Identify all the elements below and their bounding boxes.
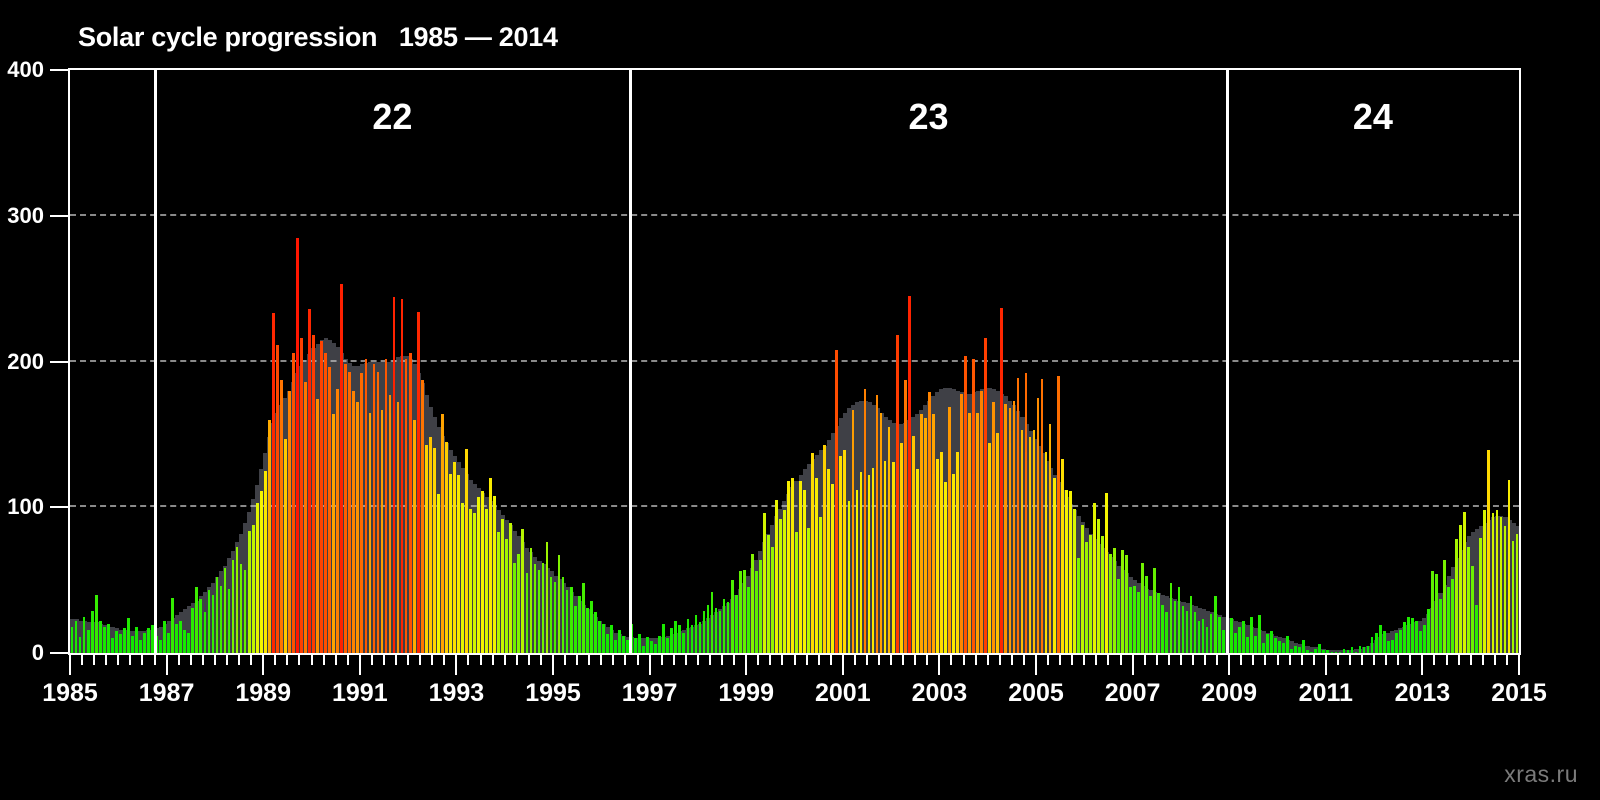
- x-tick-minor: [1071, 653, 1073, 665]
- x-tick-minor: [721, 653, 723, 665]
- plot-area: 222324: [68, 68, 1521, 655]
- monthly-bar: [308, 309, 311, 653]
- monthly-bar: [501, 519, 504, 653]
- monthly-bar: [1101, 536, 1104, 653]
- monthly-bar: [658, 636, 661, 653]
- x-tick-minor: [1470, 653, 1472, 665]
- monthly-bar: [1210, 614, 1213, 653]
- monthly-bar: [131, 636, 134, 653]
- monthly-bar: [1359, 646, 1362, 653]
- monthly-bar: [618, 630, 621, 653]
- monthly-bar: [872, 468, 875, 653]
- monthly-bar: [272, 313, 275, 653]
- x-tick-minor: [1216, 653, 1218, 665]
- monthly-bar: [1113, 548, 1116, 653]
- watermark: xras.ru: [1504, 761, 1578, 788]
- chart-title: Solar cycle progression 1985 — 2014: [78, 22, 558, 53]
- x-tick-minor: [902, 653, 904, 665]
- monthly-bar: [1262, 643, 1265, 653]
- monthly-bar: [280, 380, 283, 653]
- monthly-bar: [212, 595, 215, 653]
- monthly-bar: [578, 596, 581, 653]
- monthly-bar: [795, 532, 798, 653]
- monthly-bar: [381, 410, 384, 653]
- x-tick-minor: [854, 653, 856, 665]
- x-tick-minor: [1313, 653, 1315, 665]
- monthly-bar: [123, 628, 126, 653]
- x-tick-minor: [1385, 653, 1387, 665]
- monthly-bar: [87, 630, 90, 653]
- x-tick-label-1995: 1995: [525, 679, 581, 708]
- monthly-bar: [296, 238, 299, 653]
- monthly-bar: [1206, 627, 1209, 653]
- monthly-bar: [848, 501, 851, 653]
- monthly-bar: [1492, 513, 1495, 653]
- monthly-bar: [204, 612, 207, 653]
- monthly-bar: [316, 399, 319, 653]
- x-tick-minor: [323, 653, 325, 665]
- monthly-bar: [147, 628, 150, 653]
- x-tick-minor: [1446, 653, 1448, 665]
- monthly-bar: [1407, 617, 1410, 653]
- monthly-bar: [1379, 625, 1382, 653]
- monthly-bar: [393, 297, 396, 653]
- monthly-bar: [1282, 643, 1285, 653]
- x-tick-minor: [371, 653, 373, 665]
- monthly-bar: [1451, 579, 1454, 653]
- y-tick-label-400: 400: [0, 57, 44, 83]
- x-tick-minor: [1277, 653, 1279, 665]
- monthly-bar: [638, 634, 641, 653]
- monthly-bar: [71, 627, 74, 653]
- monthly-bar: [1375, 633, 1378, 653]
- monthly-bar: [1439, 599, 1442, 653]
- monthly-bar: [1004, 404, 1007, 653]
- monthly-bar: [159, 640, 162, 653]
- monthly-bar: [1069, 491, 1072, 653]
- x-tick-minor: [504, 653, 506, 665]
- x-tick-minor: [975, 653, 977, 665]
- monthly-bar: [602, 624, 605, 653]
- x-tick-minor: [1349, 653, 1351, 665]
- monthly-bar: [1459, 525, 1462, 653]
- monthly-bar: [1516, 534, 1519, 654]
- monthly-bar: [634, 638, 637, 653]
- monthly-bar: [473, 513, 476, 653]
- monthly-bar: [485, 509, 488, 653]
- x-tick-minor: [250, 653, 252, 665]
- x-tick-minor: [673, 653, 675, 665]
- monthly-bar: [232, 560, 235, 653]
- x-tick-minor: [528, 653, 530, 665]
- monthly-bar: [324, 353, 327, 653]
- monthly-bar: [534, 564, 537, 653]
- monthly-bar: [1314, 649, 1317, 653]
- x-tick-minor: [757, 653, 759, 665]
- monthly-bar: [1194, 612, 1197, 653]
- x-tick-label-1987: 1987: [139, 679, 195, 708]
- x-tick-major: [649, 653, 651, 675]
- monthly-bar: [1278, 641, 1281, 653]
- monthly-bar: [336, 389, 339, 653]
- x-tick-minor: [492, 653, 494, 665]
- monthly-bar: [1254, 636, 1257, 653]
- monthly-bar: [1479, 538, 1482, 653]
- monthly-bar: [1487, 450, 1490, 653]
- monthly-bar: [1049, 424, 1052, 653]
- monthly-bar: [1145, 576, 1148, 653]
- monthly-bar: [1202, 619, 1205, 653]
- monthly-bar: [1097, 519, 1100, 653]
- x-tick-minor: [1059, 653, 1061, 665]
- monthly-bar: [996, 433, 999, 653]
- monthly-bar: [678, 625, 681, 653]
- monthly-bar: [570, 587, 573, 653]
- monthly-bar: [912, 436, 915, 653]
- monthly-bar: [582, 583, 585, 653]
- x-tick-minor: [214, 653, 216, 665]
- monthly-bar: [425, 445, 428, 653]
- x-tick-minor: [1373, 653, 1375, 665]
- monthly-bar: [682, 633, 685, 653]
- monthly-bar: [208, 590, 211, 653]
- monthly-bar: [666, 638, 669, 653]
- monthly-bar: [928, 392, 931, 653]
- monthly-bar: [127, 618, 130, 653]
- monthly-bar: [1198, 621, 1201, 653]
- monthly-bar: [1033, 430, 1036, 653]
- monthly-bar: [481, 491, 484, 653]
- monthly-bar: [1093, 503, 1096, 653]
- x-tick-minor: [588, 653, 590, 665]
- monthly-bar: [835, 350, 838, 653]
- x-tick-major: [1228, 653, 1230, 675]
- monthly-bar: [711, 592, 714, 653]
- monthly-bar: [417, 312, 420, 653]
- monthly-bar: [815, 478, 818, 653]
- monthly-bar: [1371, 637, 1374, 653]
- x-tick-minor: [1240, 653, 1242, 665]
- monthly-bar: [348, 372, 351, 653]
- x-tick-minor: [1409, 653, 1411, 665]
- x-tick-minor: [274, 653, 276, 665]
- monthly-bar: [896, 335, 899, 653]
- x-tick-minor: [81, 653, 83, 665]
- monthly-bar: [1129, 587, 1132, 653]
- x-tick-minor: [1095, 653, 1097, 665]
- monthly-bar: [956, 452, 959, 653]
- cycle-label-22: 22: [372, 96, 412, 138]
- monthly-bar: [900, 443, 903, 653]
- x-tick-minor: [576, 653, 578, 665]
- monthly-bar: [1471, 566, 1474, 653]
- monthly-bar: [356, 402, 359, 653]
- monthly-bar: [827, 469, 830, 653]
- monthly-bar: [687, 619, 690, 653]
- monthly-bar: [839, 456, 842, 653]
- monthly-bar: [497, 532, 500, 653]
- monthly-bar: [606, 634, 609, 653]
- monthly-bar: [1085, 542, 1088, 653]
- monthly-bar: [1089, 535, 1092, 653]
- monthly-bar: [542, 563, 545, 653]
- monthly-bar: [759, 560, 762, 653]
- monthly-bar: [352, 391, 355, 653]
- x-tick-minor: [286, 653, 288, 665]
- x-tick-minor: [866, 653, 868, 665]
- monthly-bar: [1149, 596, 1152, 653]
- x-tick-minor: [637, 653, 639, 665]
- x-tick-minor: [1047, 653, 1049, 665]
- monthly-bar: [300, 338, 303, 653]
- monthly-bar: [695, 615, 698, 653]
- monthly-bar: [1182, 606, 1185, 653]
- x-tick-minor: [347, 653, 349, 665]
- cycle-label-24: 24: [1353, 96, 1393, 138]
- monthly-bar: [739, 571, 742, 653]
- monthly-bar: [940, 452, 943, 653]
- monthly-bar: [1105, 493, 1108, 653]
- x-tick-minor: [600, 653, 602, 665]
- monthly-bar: [1326, 650, 1329, 653]
- x-tick-minor: [1083, 653, 1085, 665]
- monthly-bar: [1427, 609, 1430, 653]
- monthly-bar: [1186, 611, 1189, 653]
- monthly-bar: [377, 372, 380, 653]
- monthly-bar: [574, 606, 577, 653]
- x-tick-minor: [1482, 653, 1484, 665]
- monthly-bar: [1500, 517, 1503, 653]
- monthly-bar: [191, 608, 194, 653]
- monthly-bar: [103, 627, 106, 653]
- x-tick-minor: [190, 653, 192, 665]
- monthly-bar: [916, 469, 919, 653]
- monthly-bar: [1355, 652, 1358, 653]
- monthly-bar: [876, 395, 879, 653]
- monthly-bar: [187, 633, 190, 653]
- monthly-bar: [1013, 401, 1016, 653]
- monthly-bar: [91, 611, 94, 653]
- monthly-bar: [856, 490, 859, 653]
- monthly-bar: [469, 509, 472, 653]
- x-tick-minor: [818, 653, 820, 665]
- monthly-bar: [1057, 376, 1060, 653]
- monthly-bar: [1331, 652, 1334, 653]
- x-tick-label-1985: 1985: [42, 679, 98, 708]
- monthly-bar: [441, 414, 444, 653]
- x-tick-label-1999: 1999: [718, 679, 774, 708]
- monthly-bar: [304, 382, 307, 653]
- monthly-bar: [1435, 574, 1438, 653]
- monthly-bar: [1367, 646, 1370, 653]
- monthly-bar: [1294, 646, 1297, 653]
- monthly-bar: [99, 621, 102, 653]
- monthly-bar: [252, 525, 255, 653]
- x-tick-minor: [1289, 653, 1291, 665]
- monthly-bar: [791, 478, 794, 653]
- monthly-bar: [288, 391, 291, 653]
- monthly-bar: [477, 497, 480, 653]
- monthly-bar: [558, 555, 561, 653]
- monthly-bar: [1161, 605, 1164, 653]
- monthly-bar: [1121, 550, 1124, 653]
- monthly-bar: [1455, 539, 1458, 653]
- monthly-bar: [767, 535, 770, 653]
- monthly-bar: [236, 547, 239, 653]
- monthly-bar: [1053, 478, 1056, 653]
- monthly-bar: [1318, 644, 1321, 653]
- monthly-bar: [260, 491, 263, 653]
- x-tick-minor: [830, 653, 832, 665]
- monthly-bar: [139, 640, 142, 653]
- monthly-bar: [1230, 618, 1233, 653]
- monthly-bar: [143, 633, 146, 653]
- monthly-bar: [1081, 525, 1084, 653]
- monthly-bar: [976, 413, 979, 653]
- monthly-bar: [1399, 630, 1402, 653]
- x-tick-minor: [1506, 653, 1508, 665]
- monthly-bar: [248, 531, 251, 653]
- x-tick-label-2005: 2005: [1008, 679, 1064, 708]
- x-tick-minor: [769, 653, 771, 665]
- x-tick-major: [1421, 653, 1423, 675]
- monthly-bar: [719, 611, 722, 653]
- monthly-bar: [268, 420, 271, 653]
- monthly-bar: [920, 414, 923, 653]
- monthly-bar: [1157, 593, 1160, 653]
- monthly-bar: [743, 570, 746, 653]
- x-tick-label-2015: 2015: [1491, 679, 1547, 708]
- x-tick-major: [745, 653, 747, 675]
- x-tick-minor: [806, 653, 808, 665]
- x-tick-minor: [564, 653, 566, 665]
- monthly-bar: [453, 462, 456, 653]
- x-tick-major: [455, 653, 457, 675]
- x-tick-label-2011: 2011: [1299, 679, 1353, 708]
- monthly-bar: [389, 395, 392, 653]
- monthly-bar: [1415, 621, 1418, 653]
- monthly-bar: [521, 529, 524, 653]
- monthly-bar: [1000, 308, 1003, 653]
- monthly-bar: [119, 634, 122, 653]
- monthly-bar: [79, 637, 82, 653]
- monthly-bar: [332, 414, 335, 653]
- monthly-bar: [944, 482, 947, 653]
- x-tick-major: [359, 653, 361, 675]
- monthly-bar: [654, 644, 657, 653]
- monthly-bar: [220, 586, 223, 653]
- x-tick-minor: [467, 653, 469, 665]
- x-tick-minor: [1301, 653, 1303, 665]
- y-tick-mark-400: [50, 69, 68, 71]
- monthly-bar: [727, 602, 730, 653]
- monthly-bar: [562, 577, 565, 653]
- x-tick-minor: [1144, 653, 1146, 665]
- x-tick-minor: [1397, 653, 1399, 665]
- monthly-bar: [1029, 437, 1032, 653]
- monthly-bar: [421, 380, 424, 653]
- x-tick-minor: [117, 653, 119, 665]
- x-tick-minor: [890, 653, 892, 665]
- x-tick-major: [69, 653, 71, 675]
- x-tick-minor: [419, 653, 421, 665]
- monthly-bar: [646, 637, 649, 653]
- monthly-bar: [1504, 526, 1507, 653]
- monthly-bar: [493, 496, 496, 653]
- monthly-bar: [1165, 612, 1168, 653]
- monthly-bar: [650, 641, 653, 653]
- monthly-bar: [662, 624, 665, 653]
- monthly-bar: [1483, 510, 1486, 653]
- monthly-bar: [747, 587, 750, 653]
- x-tick-minor: [733, 653, 735, 665]
- monthly-bar: [868, 475, 871, 653]
- monthly-bar: [264, 471, 267, 653]
- monthly-bar: [823, 445, 826, 653]
- monthly-bar: [413, 420, 416, 653]
- monthly-bar: [1258, 615, 1261, 653]
- monthly-bar: [948, 407, 951, 653]
- monthly-bar: [312, 335, 315, 653]
- x-tick-label-2001: 2001: [815, 679, 871, 708]
- monthly-bar: [1270, 631, 1273, 653]
- monthly-bar: [1383, 631, 1386, 653]
- monthly-bar: [1306, 650, 1309, 653]
- monthly-bar: [932, 414, 935, 653]
- monthly-bar: [799, 481, 802, 653]
- monthly-bar: [952, 474, 955, 653]
- monthly-bar: [1017, 378, 1020, 653]
- x-tick-minor: [1107, 653, 1109, 665]
- x-tick-minor: [93, 653, 95, 665]
- monthly-bar: [83, 617, 86, 653]
- monthly-bar: [401, 299, 404, 653]
- gridline-200: [70, 360, 1519, 362]
- monthly-bar: [1141, 563, 1144, 653]
- monthly-bar: [670, 628, 673, 653]
- monthly-bar: [699, 622, 702, 653]
- monthly-bar: [409, 353, 412, 653]
- monthly-bar: [1286, 636, 1289, 653]
- monthly-bar: [1153, 568, 1156, 653]
- monthly-bar: [75, 621, 78, 653]
- monthly-bar: [1351, 647, 1354, 653]
- monthly-bar: [111, 638, 114, 653]
- monthly-bar: [1109, 554, 1112, 653]
- monthly-bar: [171, 598, 174, 653]
- x-tick-major: [262, 653, 264, 675]
- monthly-bar: [240, 564, 243, 653]
- x-tick-minor: [178, 653, 180, 665]
- monthly-bar: [1496, 510, 1499, 653]
- monthly-bar: [292, 353, 295, 653]
- monthly-bar: [735, 595, 738, 653]
- monthly-bar: [445, 442, 448, 653]
- monthly-bar: [1238, 627, 1241, 653]
- monthly-bar: [1170, 583, 1173, 653]
- monthly-bar: [344, 364, 347, 653]
- monthly-bar: [1021, 430, 1024, 653]
- monthly-bar: [135, 627, 138, 653]
- monthly-bar: [723, 599, 726, 653]
- monthly-bar: [992, 402, 995, 653]
- monthly-bar: [819, 517, 822, 653]
- x-tick-major: [938, 653, 940, 675]
- monthly-bar: [1443, 560, 1446, 653]
- x-tick-major: [1325, 653, 1327, 675]
- monthly-bar: [195, 587, 198, 653]
- monthly-bar: [369, 413, 372, 653]
